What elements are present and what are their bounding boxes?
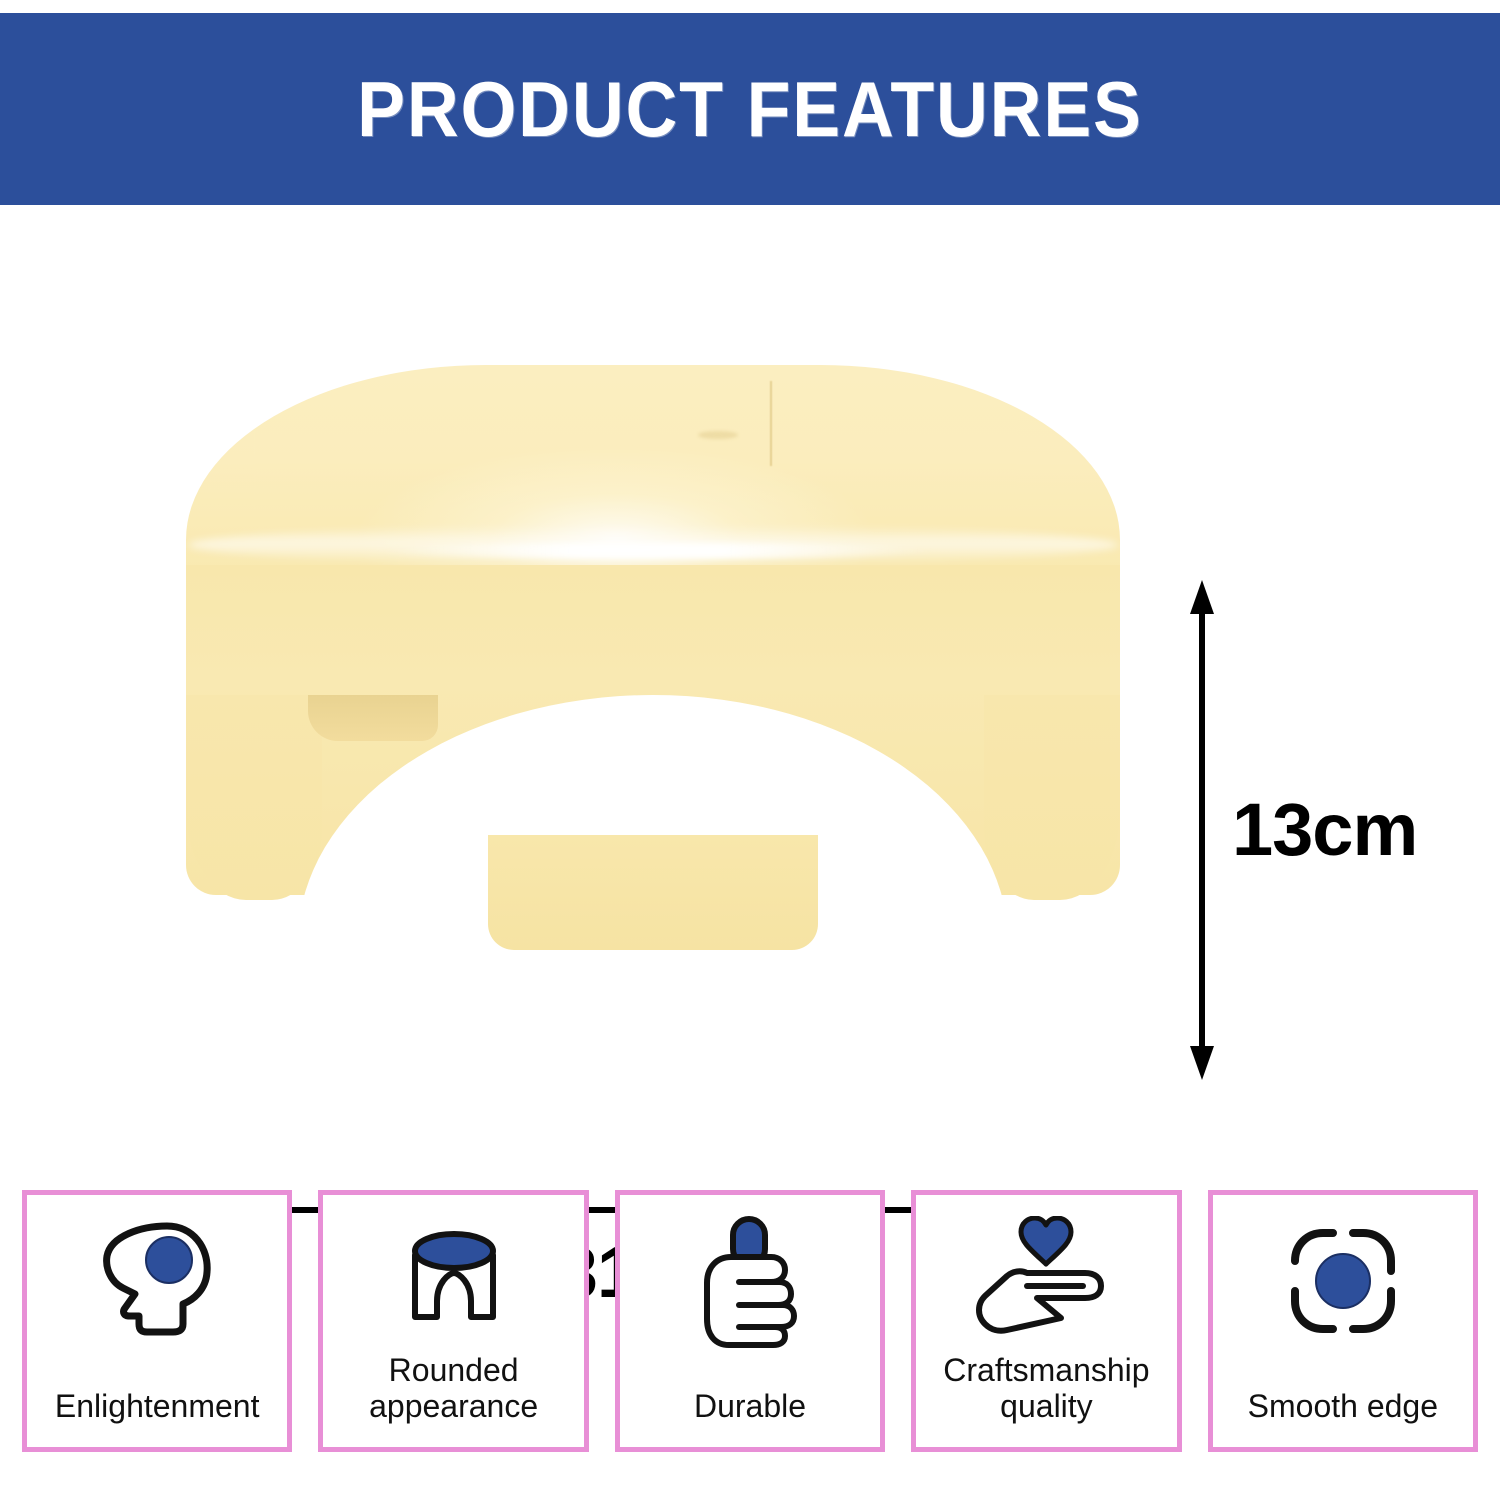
height-dimension-arrow (1190, 580, 1214, 1080)
arrow-shaft-vertical (1199, 604, 1205, 1056)
feature-label-durable: Durable (626, 1389, 874, 1425)
feature-box-craftsmanship-quality[interactable]: Craftsmanship quality (911, 1190, 1181, 1452)
feature-label-line2: appearance (369, 1388, 538, 1424)
feature-boxes-row: Enlightenment Rounded appearance Durable (22, 1190, 1478, 1452)
feature-label-smooth-edge: Smooth edge (1219, 1389, 1467, 1425)
height-dimension-label: 13cm (1232, 793, 1417, 867)
feature-box-rounded-appearance[interactable]: Rounded appearance (318, 1190, 588, 1452)
stool-specular-glint (378, 543, 938, 559)
focus-frame-dot-icon (1283, 1211, 1403, 1351)
stool-icon (389, 1211, 519, 1351)
feature-label-rounded-appearance: Rounded appearance (329, 1353, 577, 1425)
feature-label-line1: Craftsmanship (943, 1352, 1149, 1388)
thumbs-up-icon (695, 1211, 805, 1351)
feature-label-line2: quality (1000, 1388, 1093, 1424)
feature-box-enlightenment[interactable]: Enlightenment (22, 1190, 292, 1452)
product-photo-stool (178, 365, 1128, 935)
feature-label-line1: Rounded (389, 1352, 519, 1388)
stool-mold-seam (770, 381, 772, 466)
feature-label-craftsmanship-quality: Craftsmanship quality (922, 1353, 1170, 1425)
stool-front-foot (488, 835, 818, 950)
page-title: PRODUCT FEATURES (357, 70, 1143, 148)
feature-label-enlightenment: Enlightenment (33, 1389, 281, 1425)
stool-surface-mark (698, 431, 738, 439)
head-brain-icon (97, 1211, 217, 1351)
stool-leg-right (984, 695, 1120, 900)
header-banner: PRODUCT FEATURES (0, 13, 1500, 205)
stool-arch-inner-shadow (308, 695, 438, 741)
arrow-head-down-icon (1190, 1046, 1214, 1080)
product-image-stage: 13cm 31cm (0, 215, 1500, 1175)
feature-box-smooth-edge[interactable]: Smooth edge (1208, 1190, 1478, 1452)
stool-leg-left (186, 695, 322, 900)
feature-box-durable[interactable]: Durable (615, 1190, 885, 1452)
hand-heart-icon (971, 1211, 1121, 1351)
